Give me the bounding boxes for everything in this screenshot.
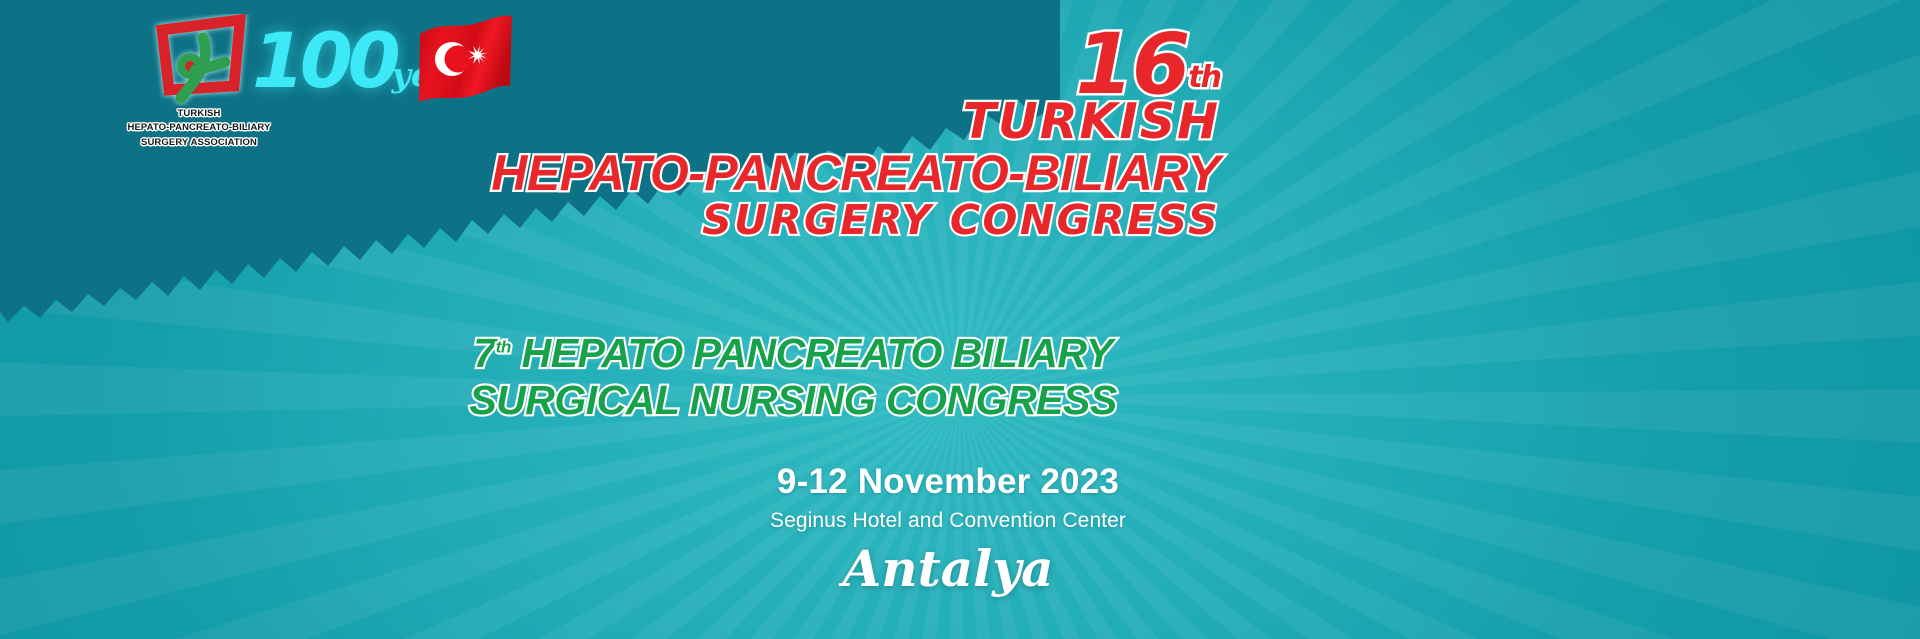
event-city: Antalya <box>770 539 1126 598</box>
nursing-title-line-2: SURGICAL NURSING CONGRESS <box>469 379 1116 422</box>
event-info: 9-12 November 2023 Seginus Hotel and Con… <box>0 462 1920 598</box>
association-logo-line-2: HEPATO-PANCREATO-BILIARY <box>104 122 294 134</box>
nursing-congress-title: 7th HEPATO PANCREATO BILIARY SURGICAL NU… <box>0 332 1920 423</box>
main-congress-title: 16th TURKISH HEPATO-PANCREATO-BILIARY SU… <box>440 26 1220 241</box>
event-date: 9-12 November 2023 <box>770 462 1126 502</box>
event-venue: Seginus Hotel and Convention Center <box>770 509 1126 533</box>
congress-title-specialty: HEPATO-PANCREATO-BILIARY <box>440 148 1220 198</box>
congress-title-event: SURGERY CONGRESS <box>440 200 1220 241</box>
logo-figure-icon <box>145 14 253 106</box>
congress-title-country: TURKISH <box>440 97 1220 147</box>
association-logo-mark <box>145 14 253 106</box>
congress-banner: TURKISH HEPATO-PANCREATO-BILIARY SURGERY… <box>0 0 1920 639</box>
congress-edition-suffix: th <box>1188 64 1220 92</box>
association-logo-line-1: TURKISH <box>104 108 294 120</box>
congress-edition-number: 16 <box>1075 26 1188 103</box>
association-logo-line-3: SURGERY ASSOCIATION <box>104 137 294 149</box>
nursing-edition-number: 7 <box>473 330 495 376</box>
congress-edition: 16th <box>440 26 1220 103</box>
nursing-title-specialty: HEPATO PANCREATO BILIARY <box>522 330 1113 376</box>
anniversary-number: 100 <box>252 23 396 99</box>
nursing-edition-suffix: th <box>496 337 511 356</box>
nursing-title-line-1: 7th HEPATO PANCREATO BILIARY <box>469 332 1116 375</box>
